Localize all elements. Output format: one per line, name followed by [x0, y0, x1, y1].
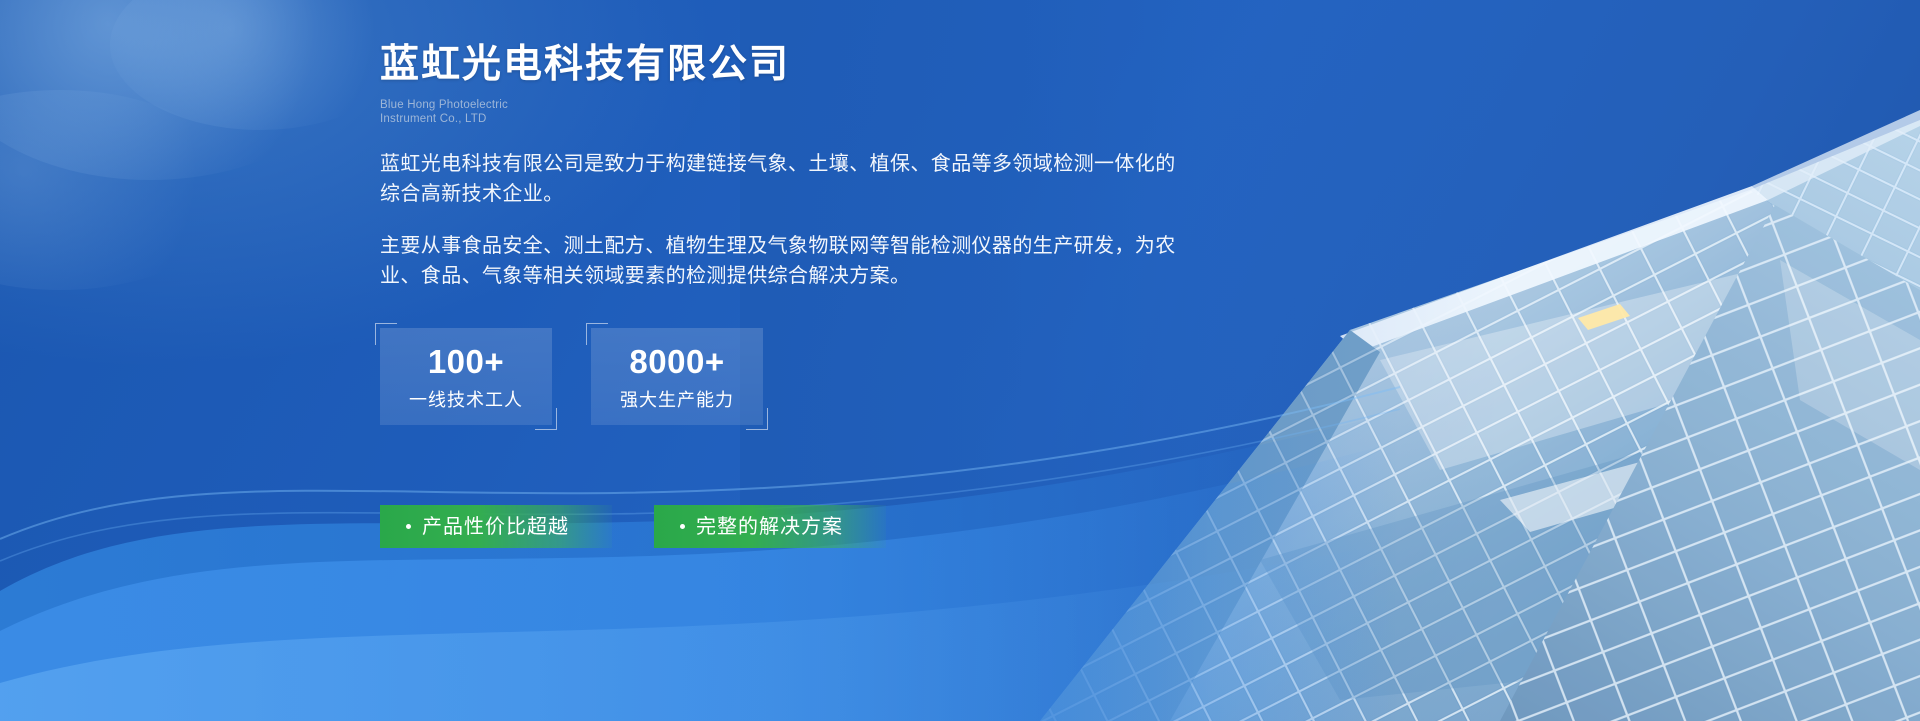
- bullet-dot-icon: [406, 524, 411, 529]
- decorative-cloud: [0, 90, 240, 290]
- decorative-cloud: [0, 0, 360, 180]
- page-title: 蓝虹光电科技有限公司: [380, 45, 1560, 84]
- company-subtitle: Blue Hong Photoelectric Instrument Co., …: [380, 98, 1560, 126]
- feature-tag-label: 完整的解决方案: [696, 517, 843, 537]
- feature-tag-label: 产品性价比超越: [422, 517, 569, 537]
- stat-label: 强大生产能力: [620, 391, 734, 409]
- stat-number: 100+: [428, 345, 504, 378]
- stat-card: 100+ 一线技术工人: [380, 328, 552, 425]
- feature-tag: 产品性价比超越: [380, 505, 612, 548]
- intro-paragraph-1: 蓝虹光电科技有限公司是致力于构建链接气象、土壤、植保、食品等多领域检测一体化的综…: [380, 149, 1180, 209]
- intro-paragraph-2: 主要从事食品安全、测土配方、植物生理及气象物联网等智能检测仪器的生产研发，为农业…: [380, 231, 1180, 291]
- company-subtitle-line2: Instrument Co., LTD: [380, 112, 1560, 126]
- corner-bracket-icon: [586, 323, 608, 345]
- corner-bracket-icon: [375, 323, 397, 345]
- stat-label: 一线技术工人: [409, 391, 523, 409]
- bullet-dot-icon: [680, 524, 685, 529]
- decorative-cloud: [110, 0, 410, 130]
- stat-number: 8000+: [629, 345, 724, 378]
- corner-bracket-icon: [746, 408, 768, 430]
- banner-content: 蓝虹光电科技有限公司 Blue Hong Photoelectric Instr…: [380, 0, 1560, 721]
- stat-card-list: 100+ 一线技术工人 8000+ 强大生产能力: [380, 328, 1560, 425]
- company-subtitle-line1: Blue Hong Photoelectric: [380, 98, 1560, 112]
- corner-bracket-icon: [535, 408, 557, 430]
- feature-tag: 完整的解决方案: [654, 505, 886, 548]
- stat-card: 8000+ 强大生产能力: [591, 328, 763, 425]
- hero-banner: 蓝虹光电科技有限公司 Blue Hong Photoelectric Instr…: [0, 0, 1920, 721]
- feature-tag-list: 产品性价比超越 完整的解决方案: [380, 505, 1560, 548]
